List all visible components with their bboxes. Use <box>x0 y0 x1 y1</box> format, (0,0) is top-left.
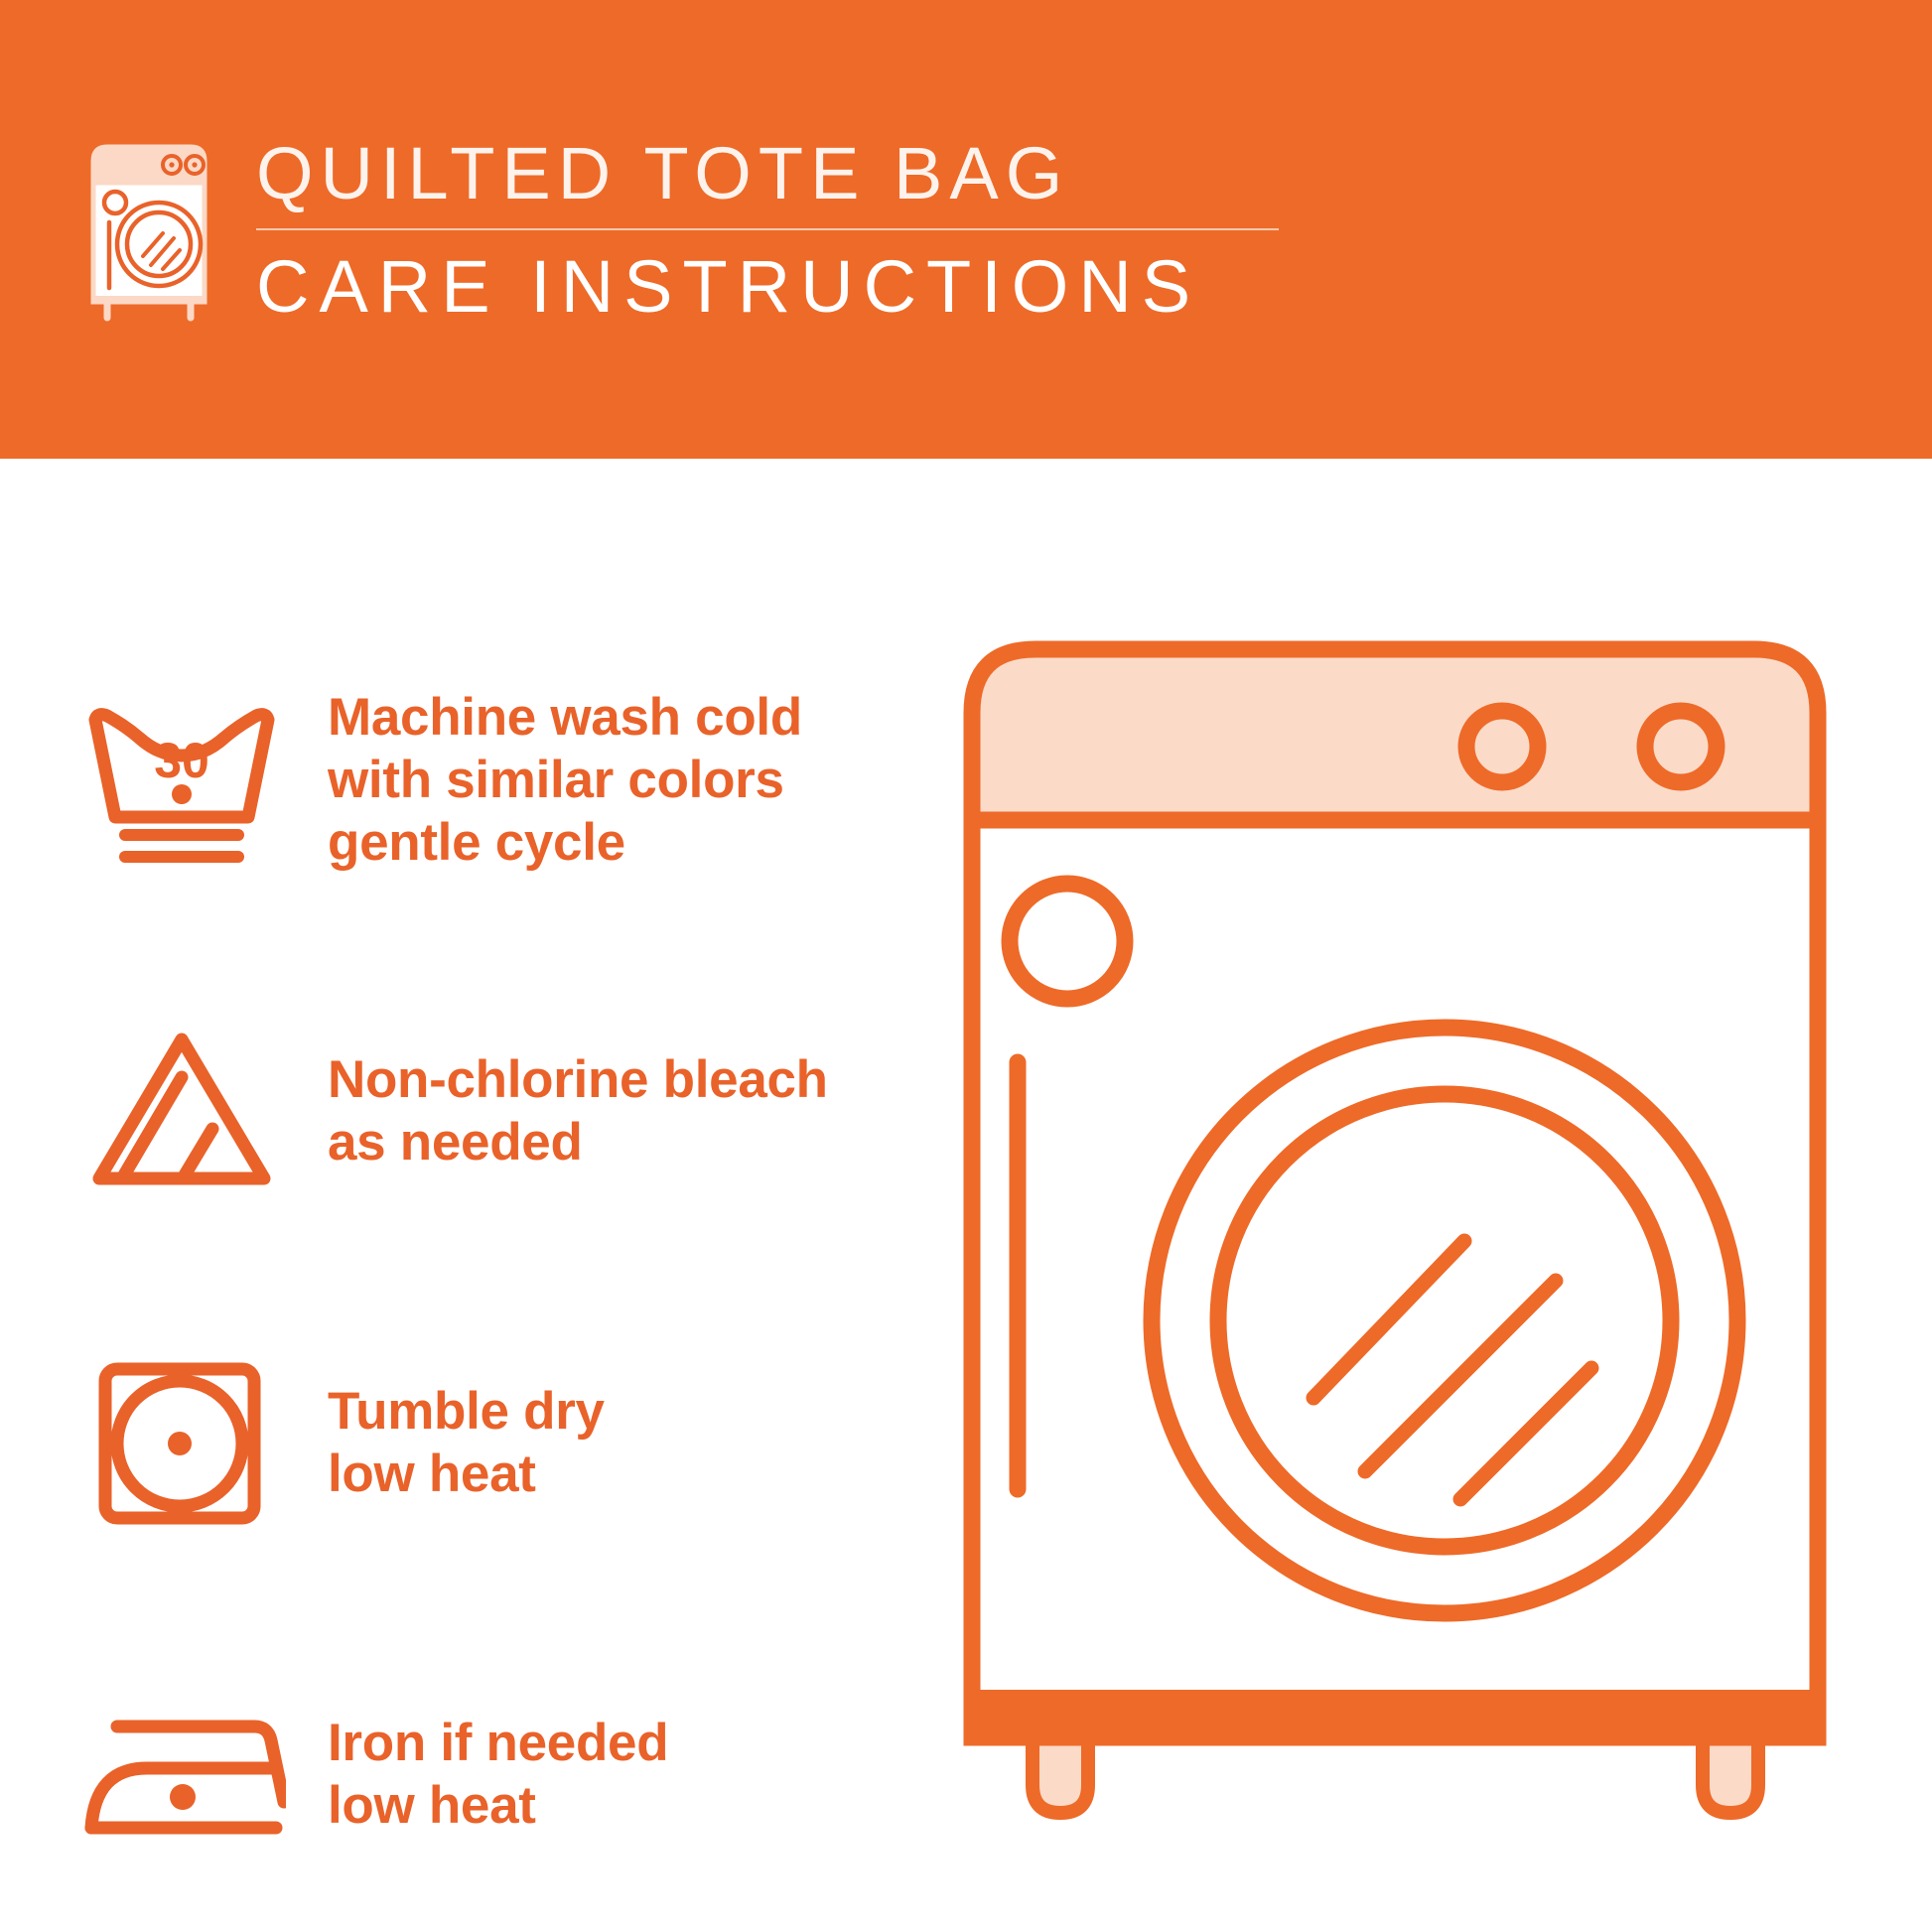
washing-machine-icon <box>79 139 218 323</box>
care-text-iron: Iron if needed low heat <box>328 1712 668 1837</box>
care-line: Iron if needed <box>328 1712 668 1774</box>
care-row-iron: Iron if needed low heat <box>77 1660 892 1888</box>
care-row-bleach: Non-chlorine bleach as needed <box>77 997 892 1225</box>
care-row-machine-wash: 30 Machine wash cold with similar colors… <box>77 665 892 894</box>
care-line: Machine wash cold <box>328 686 802 749</box>
tumble-dry-icon <box>77 1338 286 1547</box>
page-title: QUILTED TOTE BAG <box>256 131 1279 216</box>
care-line: as needed <box>328 1111 828 1173</box>
washer-base-bar <box>972 1690 1818 1737</box>
care-row-tumble-dry: Tumble dry low heat <box>77 1328 892 1557</box>
header-title-group: QUILTED TOTE BAG CARE INSTRUCTIONS <box>256 129 1279 330</box>
care-instructions-list: 30 Machine wash cold with similar colors… <box>77 665 892 1888</box>
washer-knob-right <box>1645 711 1717 782</box>
care-text-tumble-dry: Tumble dry low heat <box>328 1380 605 1505</box>
care-line: Non-chlorine bleach <box>328 1048 828 1111</box>
header-content: QUILTED TOTE BAG CARE INSTRUCTIONS <box>79 129 1279 330</box>
care-line: gentle cycle <box>328 811 802 874</box>
page-subtitle: CARE INSTRUCTIONS <box>256 244 1279 330</box>
wash-tub-30-icon: 30 <box>77 675 286 884</box>
iron-icon <box>77 1670 286 1878</box>
header-banner: QUILTED TOTE BAG CARE INSTRUCTIONS <box>0 0 1932 459</box>
bleach-triangle-icon <box>77 1007 286 1215</box>
care-line: Tumble dry <box>328 1380 605 1443</box>
care-line: low heat <box>328 1443 605 1505</box>
care-line: with similar colors <box>328 749 802 811</box>
wash-temperature-label: 30 <box>154 733 209 788</box>
care-text-bleach: Non-chlorine bleach as needed <box>328 1048 828 1173</box>
washer-knob-left <box>1466 711 1538 782</box>
care-text-machine-wash: Machine wash cold with similar colors ge… <box>328 686 802 874</box>
large-washing-machine-illustration <box>948 625 1871 1886</box>
care-line: low heat <box>328 1774 668 1837</box>
washer-indicator-circle <box>1010 884 1125 999</box>
washer-door-inner-ring <box>1218 1094 1671 1547</box>
title-divider <box>256 228 1279 230</box>
